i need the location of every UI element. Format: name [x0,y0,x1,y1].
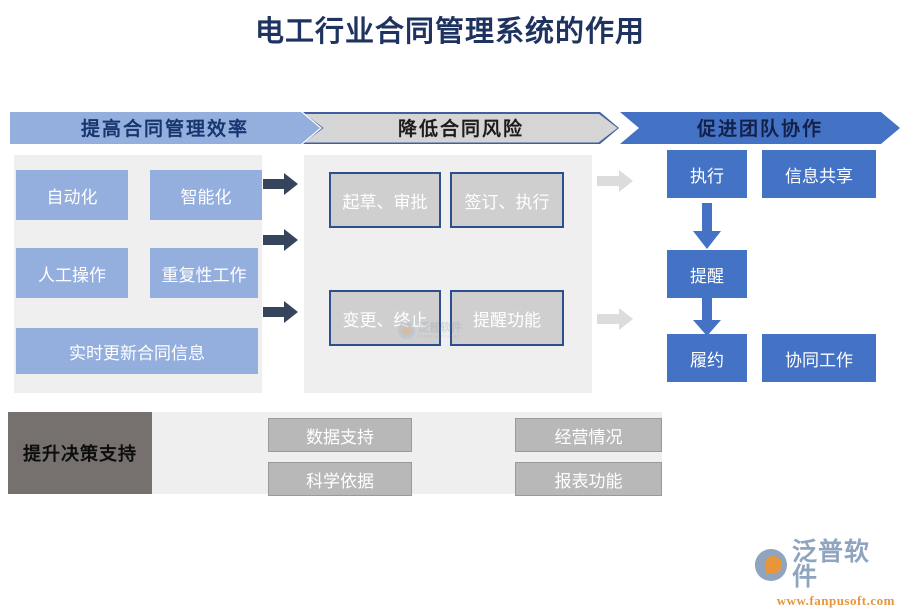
brand-logo: 泛普软件 www.fanpusoft.com [755,540,895,609]
decision-box-business-status[interactable]: 经营情况 [515,418,662,452]
collab-box-label: 履约 [690,346,724,371]
fanpu-logo-icon [755,549,787,581]
banner-team-collaboration: 促进团队协作 [620,112,900,144]
arrow-right-gray-icon [597,308,633,330]
arrow-right-gray-icon [597,170,633,192]
arrow-right-dark-icon [263,228,298,252]
efficiency-box-automation[interactable]: 自动化 [16,170,128,220]
risk-box-draft-approval[interactable]: 起草、审批 [329,172,441,228]
decision-box-label: 报表功能 [555,467,623,492]
efficiency-box-label: 实时更新合同信息 [69,339,205,364]
collab-box-label: 信息共享 [785,162,853,187]
efficiency-box-label: 人工操作 [38,261,106,286]
risk-box-label: 变更、终止 [343,306,428,331]
efficiency-box-label: 自动化 [47,183,98,208]
banner-label-3: 促进团队协作 [697,114,823,141]
risk-box-sign-execute[interactable]: 签订、执行 [450,172,564,228]
arrow-right-dark-icon [263,300,298,324]
efficiency-box-realtime-update[interactable]: 实时更新合同信息 [16,328,258,374]
brand-logo-row: 泛普软件 [755,540,895,590]
decision-box-label: 科学依据 [306,467,374,492]
decision-box-label: 数据支持 [306,423,374,448]
brand-url: www.fanpusoft.com [755,593,895,609]
decision-heading: 提升决策支持 [8,412,152,494]
risk-box-change-terminate[interactable]: 变更、终止 [329,290,441,346]
collab-box-performance[interactable]: 履约 [667,334,747,382]
collab-box-reminder[interactable]: 提醒 [667,250,747,298]
collab-box-label: 提醒 [690,262,724,287]
decision-box-data-support[interactable]: 数据支持 [268,418,412,452]
efficiency-box-repetitive-work[interactable]: 重复性工作 [150,248,258,298]
collab-box-info-sharing[interactable]: 信息共享 [762,150,876,198]
arrow-down-icon [693,203,721,249]
collab-box-teamwork[interactable]: 协同工作 [762,334,876,382]
decision-heading-label: 提升决策支持 [23,440,137,466]
decision-box-report-function[interactable]: 报表功能 [515,462,662,496]
diagram-canvas: 电工行业合同管理系统的作用 提高合同管理效率 降低合同风险 促进团队协作 自动化… [0,0,900,600]
decision-box-scientific-basis[interactable]: 科学依据 [268,462,412,496]
collab-box-execute[interactable]: 执行 [667,150,747,198]
efficiency-box-label: 重复性工作 [162,261,247,286]
page-title: 电工行业合同管理系统的作用 [0,8,900,50]
efficiency-box-label: 智能化 [181,183,232,208]
arrow-right-dark-icon [263,172,298,196]
arrow-down-icon [693,298,721,336]
efficiency-box-intelligence[interactable]: 智能化 [150,170,262,220]
banner-label-1: 提高合同管理效率 [81,114,249,141]
efficiency-box-manual-operation[interactable]: 人工操作 [16,248,128,298]
risk-box-label: 提醒功能 [473,306,541,331]
brand-name: 泛普软件 [792,540,895,590]
collab-box-label: 执行 [690,162,724,187]
banner-reduce-risk: 降低合同风险 [305,114,618,143]
risk-box-label: 起草、审批 [343,188,428,213]
banner-label-2: 降低合同风险 [398,114,524,141]
risk-box-label: 签订、执行 [465,188,550,213]
collab-box-label: 协同工作 [785,346,853,371]
decision-box-label: 经营情况 [555,423,623,448]
banner-improve-efficiency: 提高合同管理效率 [10,112,320,144]
risk-box-reminder-function[interactable]: 提醒功能 [450,290,564,346]
